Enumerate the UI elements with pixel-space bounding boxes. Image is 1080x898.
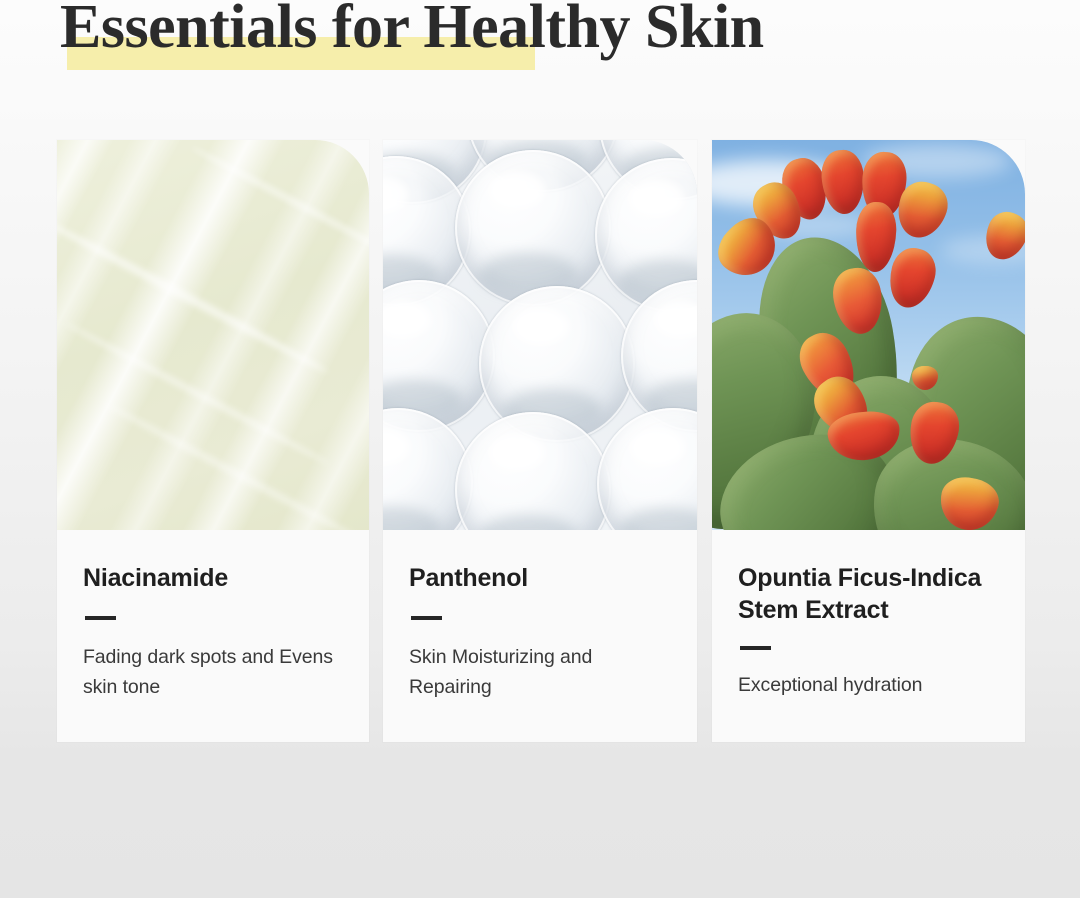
page-title: Essentials for Healthy Skin [60,0,764,58]
ingredient-card-niacinamide[interactable]: Niacinamide Fading dark spots and Evens … [57,140,369,742]
opuntia-image [712,140,1025,530]
card-title: Niacinamide [83,562,343,594]
card-divider-dash [85,616,116,620]
opuntia-text-panel: Opuntia Ficus-Indica Stem Extract Except… [712,530,1025,742]
card-divider-dash [740,646,771,650]
card-title: Opuntia Ficus-Indica Stem Extract [738,562,999,626]
card-description: Exceptional hydration [738,670,999,700]
card-divider-dash [411,616,442,620]
card-title: Panthenol [409,562,671,594]
card-description: Fading dark spots and Evens skin tone [83,642,343,702]
panthenol-image [383,140,697,530]
card-description: Skin Moisturizing and Repairing [409,642,671,702]
ingredient-card-panthenol[interactable]: Panthenol Skin Moisturizing and Repairin… [383,140,697,742]
prickly-pear-cactus-icon [712,140,1025,530]
panthenol-text-panel: Panthenol Skin Moisturizing and Repairin… [383,530,697,742]
infographic-page: Essentials for Healthy Skin Niacinamide … [0,0,1080,898]
niacinamide-text-panel: Niacinamide Fading dark spots and Evens … [57,530,369,742]
niacinamide-image [57,140,369,530]
ingredient-card-opuntia[interactable]: Opuntia Ficus-Indica Stem Extract Except… [712,140,1025,742]
ingredient-card-row: Niacinamide Fading dark spots and Evens … [0,140,1080,744]
cream-texture-icon [57,140,369,530]
page-header: Essentials for Healthy Skin [0,0,1080,100]
water-bubbles-icon [383,140,697,530]
